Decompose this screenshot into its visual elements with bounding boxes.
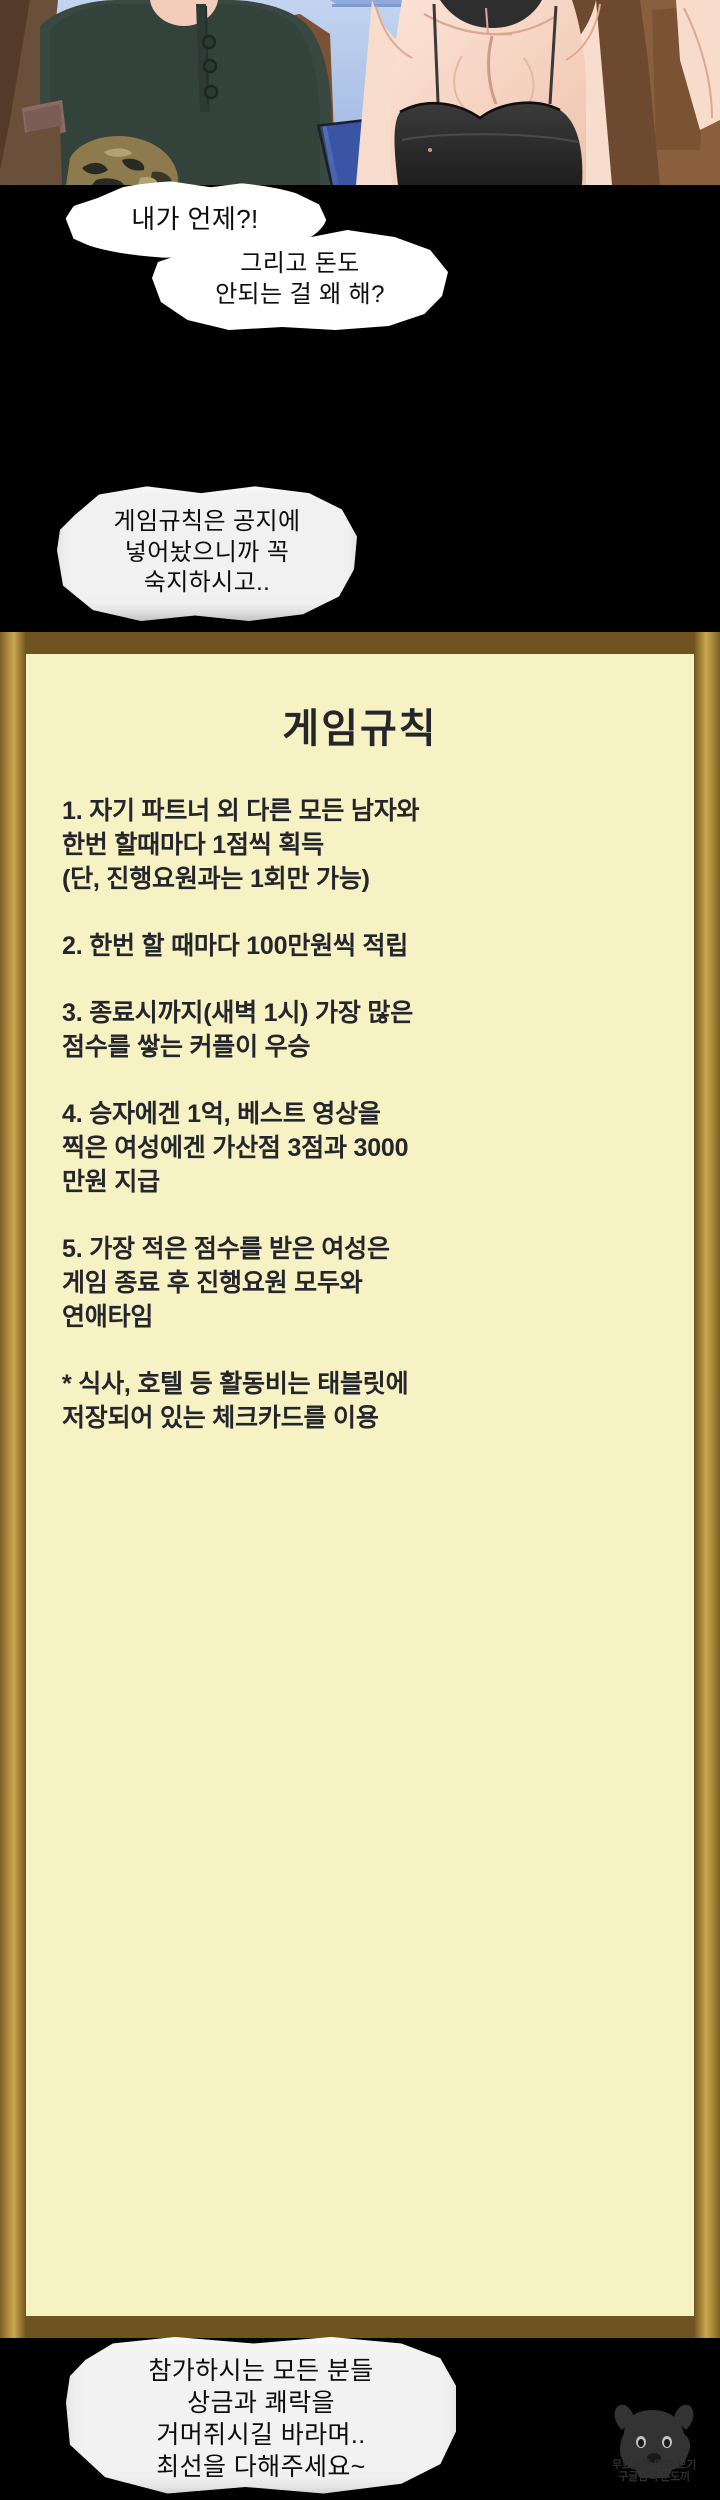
bubble-3-line-1: 게임규칙은 공지에 xyxy=(114,507,301,538)
dog-logo-watermark: 무료웹툰 만화 보기 구글검색 툰도끼 xyxy=(594,2400,714,2496)
game-rules-title: 게임규칙 xyxy=(26,696,694,754)
bubble-4-line-2: 상금과 쾌락을 xyxy=(187,2387,335,2419)
rule-item: 5. 가장 적은 점수를 받은 여성은 게임 종료 후 진행요원 모두와 연애타… xyxy=(62,1232,662,1334)
speech-bubble-rules-in-notice: 게임규칙은 공지에 넣어놨으니까 꼭 숙지하시고.. xyxy=(57,485,357,621)
rule-item: 3. 종료시까지(새벽 1시) 가장 많은 점수를 쌓는 커플이 우승 xyxy=(62,996,662,1064)
rule-3-line-1: 3. 종료시까지(새벽 1시) 가장 많은 xyxy=(62,996,662,1030)
rule-item: 1. 자기 파트너 외 다른 모든 남자와 한번 할때마다 1점씩 획득 (단,… xyxy=(62,794,662,896)
game-rules-paper: 게임규칙 1. 자기 파트너 외 다른 모든 남자와 한번 할때마다 1점씩 획… xyxy=(26,654,694,2316)
rule-note-line-1: * 식사, 호텔 등 활동비는 태블릿에 xyxy=(62,1367,662,1401)
rule-5-line-3: 연애타임 xyxy=(62,1300,662,1334)
bubble-1-line-1: 내가 언제?! xyxy=(131,203,258,236)
bubble-4-line-4: 최선을 다해주세요~ xyxy=(156,2451,366,2483)
rule-1-line-3: (단, 진행요원과는 1회만 가능) xyxy=(62,862,662,896)
bubble-2-line-2: 안되는 걸 왜 해? xyxy=(215,280,385,311)
car-interior-illustration xyxy=(0,0,720,185)
rule-note-line-2: 저장되어 있는 체크카드를 이용 xyxy=(62,1401,662,1435)
bubble-3-line-3: 숙지하시고.. xyxy=(144,568,271,599)
rule-3-line-2: 점수를 쌓는 커플이 우승 xyxy=(62,1030,662,1064)
watermark-text: 무료웹툰 만화 보기 구글검색 툰도끼 xyxy=(594,2459,714,2484)
rule-5-line-2: 게임 종료 후 진행요원 모두와 xyxy=(62,1266,662,1300)
bubble-4-line-1: 참가하시는 모든 분들 xyxy=(148,2355,373,2387)
rule-2-line-1: 2. 한번 할 때마다 100만원씩 적립 xyxy=(62,929,662,963)
bubble-3-line-2: 넣어놨으니까 꼭 xyxy=(125,538,289,569)
watermark-line-2: 구글검색 툰도끼 xyxy=(594,2471,714,2484)
rule-item: 2. 한번 할 때마다 100만원씩 적립 xyxy=(62,929,662,963)
rule-1-line-1: 1. 자기 파트너 외 다른 모든 남자와 xyxy=(62,794,662,828)
rule-item: 4. 승자에겐 1억, 베스트 영상을 찍은 여성에겐 가산점 3점과 3000… xyxy=(62,1097,662,1199)
bubble-4-line-3: 거머쥐시길 바라며.. xyxy=(156,2419,365,2451)
game-rules-list: 1. 자기 파트너 외 다른 모든 남자와 한번 할때마다 1점씩 획득 (단,… xyxy=(62,794,662,1435)
rule-4-line-2: 찍은 여성에겐 가산점 3점과 3000 xyxy=(62,1131,662,1165)
rule-4-line-1: 4. 승자에겐 1억, 베스트 영상을 xyxy=(62,1097,662,1131)
rule-note-item: * 식사, 호텔 등 활동비는 태블릿에 저장되어 있는 체크카드를 이용 xyxy=(62,1367,662,1435)
rule-4-line-3: 만원 지급 xyxy=(62,1165,662,1199)
rule-5-line-1: 5. 가장 적은 점수를 받은 여성은 xyxy=(62,1232,662,1266)
game-rules-board: 게임규칙 1. 자기 파트너 외 다른 모든 남자와 한번 할때마다 1점씩 획… xyxy=(0,632,720,2338)
car-interior-panel xyxy=(0,0,720,185)
bubble-2-line-1: 그리고 돈도 xyxy=(240,249,359,280)
dog-logo-icon xyxy=(594,2400,714,2496)
webtoon-page: 내가 언제?! 그리고 돈도 안되는 걸 왜 해? 게임규칙은 공지에 넣어놨으… xyxy=(0,0,720,2500)
watermark-line-1: 무료웹툰 만화 보기 xyxy=(594,2459,714,2472)
speech-bubble-closing-wish: 참가하시는 모든 분들 상금과 쾌락을 거머쥐시길 바라며.. 최선을 다해주세… xyxy=(66,2337,456,2500)
rule-1-line-2: 한번 할때마다 1점씩 획득 xyxy=(62,828,662,862)
